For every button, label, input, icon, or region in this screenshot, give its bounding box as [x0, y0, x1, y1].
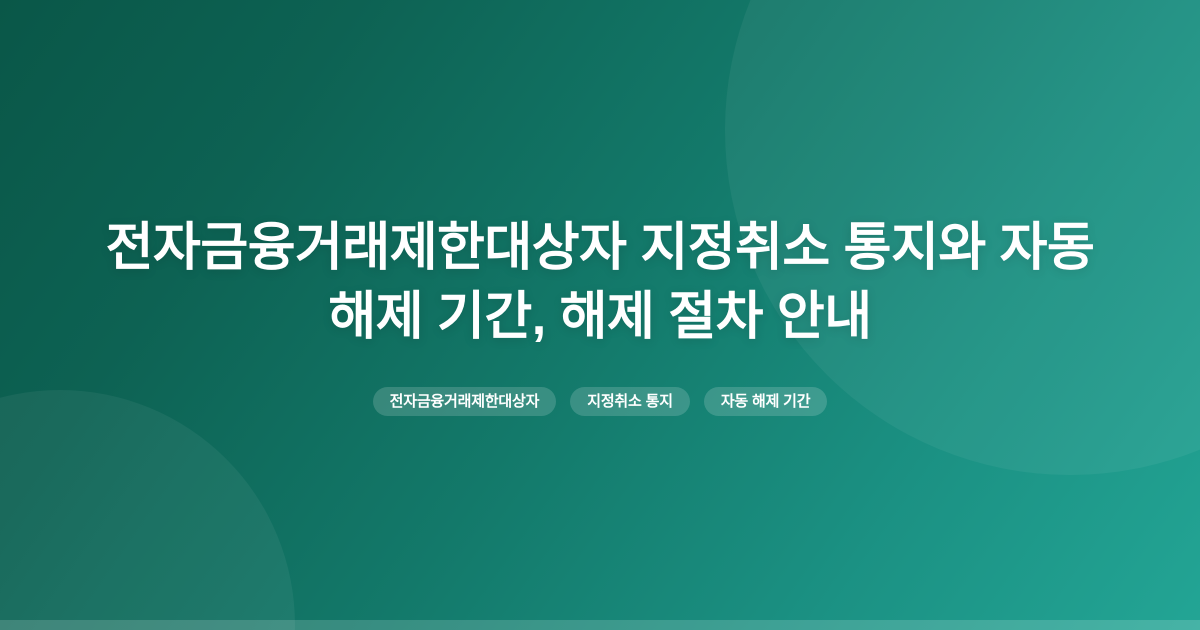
card-content: 전자금융거래제한대상자 지정취소 통지와 자동 해제 기간, 해제 절차 안내 … [0, 0, 1200, 630]
social-share-card: 전자금융거래제한대상자 지정취소 통지와 자동 해제 기간, 해제 절차 안내 … [0, 0, 1200, 630]
tag-item-3[interactable]: 자동 해제 기간 [704, 387, 828, 416]
tag-list: 전자금융거래제한대상자 지정취소 통지 자동 해제 기간 [373, 387, 828, 416]
tag-item-1[interactable]: 전자금융거래제한대상자 [373, 387, 557, 416]
page-title: 전자금융거래제한대상자 지정취소 통지와 자동 해제 기간, 해제 절차 안내 [85, 214, 1115, 351]
tag-item-2[interactable]: 지정취소 통지 [570, 387, 690, 416]
bottom-accent-bar [0, 620, 1200, 630]
